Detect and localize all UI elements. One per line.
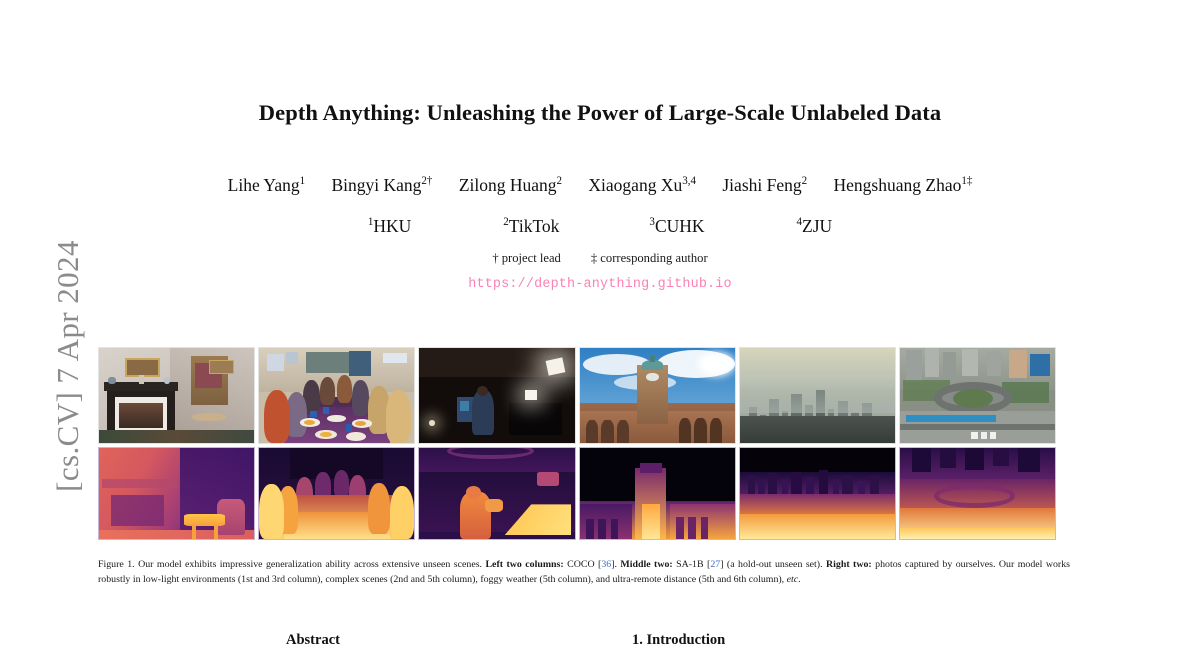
author-name: Hengshuang Zhao [834, 175, 962, 195]
arxiv-stamp: [cs.CV] 7 Apr 2024 [50, 186, 86, 546]
caption-figure-label: Figure 1. [98, 559, 135, 570]
figure-depth-dark-indoor-performer [418, 447, 575, 540]
figure-photo-family-dinner-table [258, 347, 415, 444]
citation-36[interactable]: 36 [601, 559, 611, 570]
caption-text-5: ] (a hold-out unseen set). [720, 559, 826, 570]
author-name: Bingyi Kang [331, 175, 421, 195]
author-affil-marker: 2 [802, 175, 808, 187]
author-entry: Hengshuang Zhao1‡ [834, 175, 973, 196]
caption-bold-right-two: Right two: [826, 559, 872, 570]
author-affil-marker: 3,4 [682, 175, 696, 187]
citation-27[interactable]: 27 [710, 559, 720, 570]
author-affil-marker: 2† [421, 175, 432, 187]
author-affil-marker: 1 [300, 175, 306, 187]
figure-photo-aerial-roundabout-plaza [899, 347, 1056, 444]
author-name: Jiashi Feng [722, 175, 801, 195]
author-affil-marker: 1‡ [961, 175, 972, 187]
caption-bold-middle-two: Middle two: [620, 559, 672, 570]
caption-bold-left-two: Left two columns: [485, 559, 563, 570]
affiliation-name: ZJU [802, 216, 832, 236]
figure-photo-row [98, 347, 1068, 444]
affiliation-list: 1HKU2TikTok3CUHK4ZJU [100, 216, 1100, 237]
figure-depth-aerial-roundabout-plaza [899, 447, 1056, 540]
affiliation-entry: 4ZJU [797, 216, 833, 237]
corresponding-author-note: ‡ corresponding author [591, 251, 708, 265]
introduction-heading: 1. Introduction [632, 632, 802, 648]
author-entry: Lihe Yang1 [228, 175, 305, 196]
figure-photo-clock-tower-building [579, 347, 736, 444]
caption-etc: etc [787, 574, 799, 585]
author-affil-marker: 2 [557, 175, 563, 187]
author-entry: Xiaogang Xu3,4 [588, 175, 696, 196]
project-lead-note: † project lead [492, 251, 561, 265]
affiliation-name: HKU [373, 216, 411, 236]
caption-text-2: COCO [ [564, 559, 602, 570]
figure-photo-fireplace-living-room [98, 347, 255, 444]
paper-page: [cs.CV] 7 Apr 2024 Depth Anything: Unlea… [0, 0, 1200, 648]
affiliation-entry: 3CUHK [649, 216, 704, 237]
affiliation-name: TikTok [509, 216, 560, 236]
abstract-heading: Abstract [286, 632, 406, 648]
page-title: Depth Anything: Unleashing the Power of … [100, 100, 1100, 126]
affiliation-name: CUHK [655, 216, 705, 236]
figure-depth-fireplace-living-room [98, 447, 255, 540]
figure-depth-row [98, 447, 1068, 540]
figure-caption: Figure 1. Our model exhibits impressive … [98, 557, 1070, 588]
figure-depth-family-dinner-table [258, 447, 415, 540]
author-list: Lihe Yang1 Bingyi Kang2† Zilong Huang2 X… [100, 175, 1100, 196]
figure-1-grid [98, 347, 1068, 540]
figure-depth-clock-tower-building [579, 447, 736, 540]
author-name: Xiaogang Xu [588, 175, 682, 195]
affiliation-entry: 2TikTok [503, 216, 559, 237]
author-entry: Bingyi Kang2† [331, 175, 432, 196]
author-entry: Zilong Huang2 [459, 175, 562, 196]
caption-text-1: Our model exhibits impressive generaliza… [135, 559, 486, 570]
author-name: Zilong Huang [459, 175, 557, 195]
author-name: Lihe Yang [228, 175, 300, 195]
caption-text-4: SA-1B [ [673, 559, 711, 570]
project-url-link[interactable]: https://depth-anything.github.io [100, 277, 1100, 292]
author-entry: Jiashi Feng2 [722, 175, 807, 196]
caption-text-7: . [798, 574, 800, 585]
figure-photo-foggy-city-skyline [739, 347, 896, 444]
affiliation-entry: 1HKU [368, 216, 411, 237]
figure-photo-dark-indoor-performer [418, 347, 575, 444]
author-notes: † project lead‡ corresponding author [100, 251, 1100, 266]
figure-depth-foggy-city-skyline [739, 447, 896, 540]
